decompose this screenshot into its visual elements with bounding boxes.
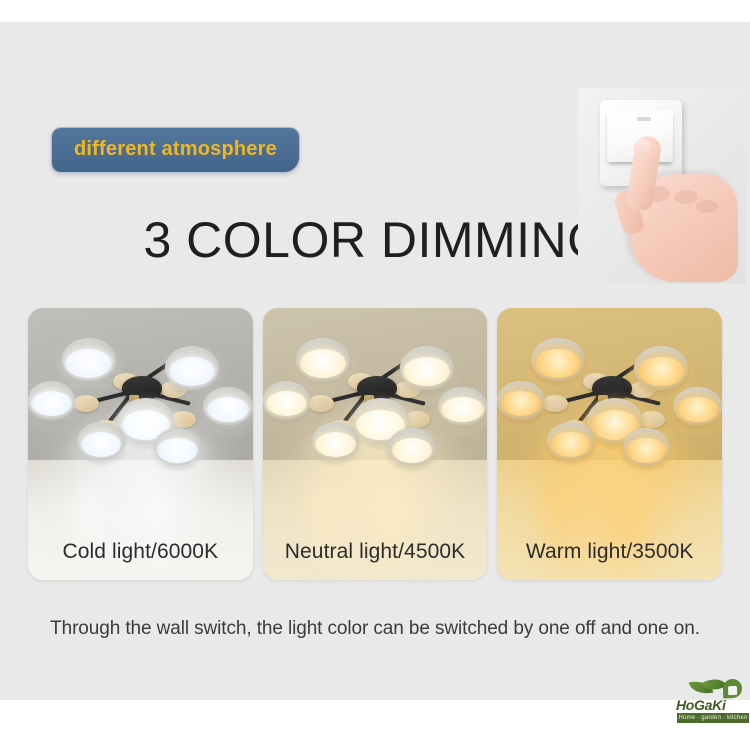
atmosphere-badge: different atmosphere <box>51 127 300 173</box>
lamp-disc <box>165 346 219 390</box>
lamp-disc <box>203 387 252 425</box>
switch-indicator-icon <box>637 117 651 121</box>
lamp-disc <box>531 338 585 382</box>
lamp-disc <box>634 346 688 390</box>
brand-tagline: Home · garden · kitchen <box>677 713 749 723</box>
color-mode-card-list: Cold light/6000K <box>28 308 722 580</box>
card-label: Cold light/6000K <box>28 540 253 564</box>
lamp-disc <box>296 338 350 382</box>
wall-switch-photo <box>578 88 746 284</box>
house-icon <box>723 679 743 699</box>
feature-caption: Through the wall switch, the light color… <box>0 618 750 640</box>
brand-logo: HoGaKi Home · garden · kitchen <box>672 676 750 724</box>
lamp-disc <box>400 346 454 390</box>
lamp-disc <box>77 422 124 460</box>
card-label: Neutral light/4500K <box>263 540 488 564</box>
lamp-disc <box>623 428 670 466</box>
lamp-disc <box>263 381 310 419</box>
product-feature-page: different atmosphere 3 COLOR DIMMING <box>0 0 750 730</box>
hand-knuckle <box>696 200 718 213</box>
brand-name: HoGaKi <box>676 697 750 713</box>
lamp-disc <box>673 387 722 425</box>
color-mode-card-neutral[interactable]: Neutral light/4500K <box>263 308 488 580</box>
lamp-disc <box>62 338 116 382</box>
color-mode-card-cold[interactable]: Cold light/6000K <box>28 308 253 580</box>
lamp-disc <box>312 422 359 460</box>
lamp-disc <box>547 422 594 460</box>
hand-knuckle <box>674 190 698 204</box>
color-mode-card-warm[interactable]: Warm light/3500K <box>497 308 722 580</box>
card-label: Warm light/3500K <box>497 540 722 564</box>
lamp-disc <box>154 428 201 466</box>
lamp-disc <box>28 381 75 419</box>
lamp-disc <box>388 428 435 466</box>
lamp-disc <box>497 381 544 419</box>
lamp-disc <box>438 387 487 425</box>
